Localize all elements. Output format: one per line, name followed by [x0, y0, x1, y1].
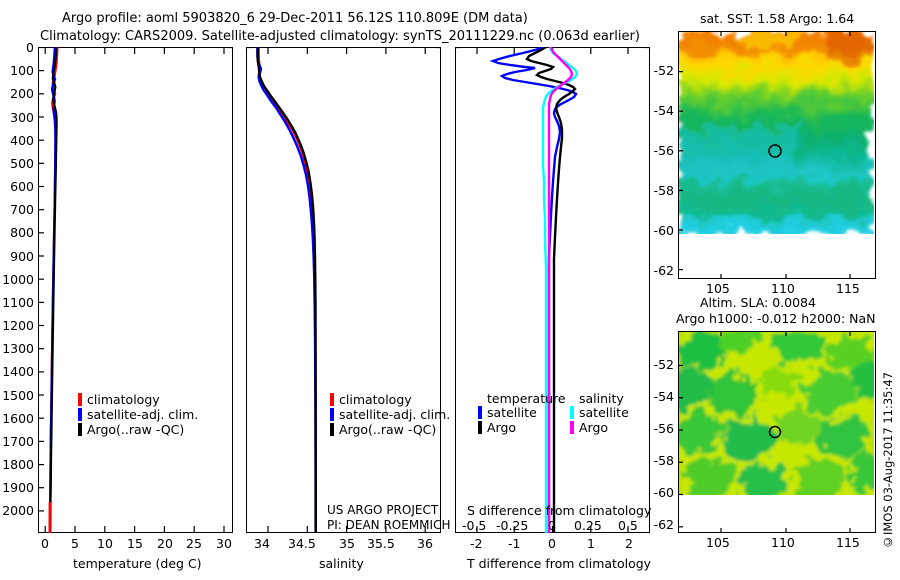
temperature-legend: climatology satellite-adj. clim. Argo(..… [78, 392, 198, 437]
salinity-axis-label: salinity [319, 556, 364, 571]
legend-item-salinity-satellite: satellite [570, 405, 629, 420]
difference-xtick-top-025: 0.25 [574, 518, 602, 533]
salinity-xtick-34: 34 [254, 536, 270, 551]
difference-xtick-top-05: 0.5 [618, 518, 638, 533]
difference-temperature-axis-label: T difference from climatology [467, 556, 651, 571]
legend-heading-temperature: temperature [487, 392, 566, 405]
legend-swatch-temperature-satellite [478, 406, 482, 419]
legend-swatch-climatology [330, 393, 334, 406]
imos-watermark: ©IMOS 03-Aug-2017 11:35:47 [881, 372, 895, 549]
legend-swatch-satellite-adj [330, 408, 334, 421]
legend-label-temperature-satellite: satellite [487, 406, 537, 419]
difference-legend: temperature satellite Argo [478, 392, 566, 435]
sst-xtick-105: 105 [706, 281, 730, 296]
legend-label-satellite-adj: satellite-adj. clim. [87, 408, 198, 421]
chart-title-line2: Climatology: CARS2009. Satellite-adjuste… [40, 29, 640, 44]
difference-series-temperature-satellite [493, 47, 576, 533]
legend-swatch-argo [330, 423, 334, 436]
legend-label-argo: Argo(..raw -QC) [87, 423, 184, 436]
difference-xtick-bottom-neg1: -1 [508, 536, 520, 551]
sla-xtick-105: 105 [706, 535, 730, 550]
legend-label-climatology: climatology [339, 393, 412, 406]
legend-item-temperature-satellite: satellite [478, 405, 566, 420]
legend-swatch-satellite-adj [78, 408, 82, 421]
salinity-xtick-36: 36 [417, 536, 433, 551]
difference-profile-plot [455, 47, 650, 533]
difference-xtick-bottom-2: 2 [625, 536, 633, 551]
legend-item-argo-salinity: Argo(..raw -QC) [330, 422, 450, 437]
legend-swatch-salinity-argo [570, 421, 574, 434]
legend-swatch-argo [78, 423, 82, 436]
legend-swatch-climatology [78, 393, 82, 406]
legend-swatch-temperature-argo [478, 421, 482, 434]
temperature-xtick-20: 20 [157, 536, 173, 551]
chart-title-line1: Argo profile: aoml 5903820_6 29-Dec-2011… [62, 11, 528, 26]
sst-map-ticks [678, 31, 876, 279]
difference-salinity-axis-label: S difference from climatology [467, 503, 651, 518]
legend-label-salinity-argo: Argo [579, 421, 608, 434]
salinity-legend: climatology satellite-adj. clim. Argo(..… [330, 392, 450, 437]
legend-item-climatology-salinity: climatology [330, 392, 450, 407]
salinity-profile-plot [246, 47, 441, 533]
us-argo-project-credit: US ARGO PROJECT [327, 503, 438, 517]
legend-item-satellite-adj: satellite-adj. clim. [78, 407, 198, 422]
sst-map-title: sat. SST: 1.58 Argo: 1.64 [700, 11, 854, 26]
salinity-xtick-35-5: 35.5 [367, 536, 395, 551]
difference-xtick-top-neg05: -0.5 [462, 518, 486, 533]
temperature-profile-plot [38, 47, 233, 533]
temperature-series-argo [50, 47, 56, 533]
difference-legend-salinity: salinity satellite Argo [570, 392, 629, 435]
temperature-xtick-10: 10 [97, 536, 113, 551]
legend-label-climatology: climatology [87, 393, 160, 406]
salinity-xtick-35: 35 [339, 536, 355, 551]
sla-xtick-115: 115 [836, 535, 860, 550]
pi-credit: PI: DEAN ROEMMICH [327, 518, 450, 532]
temperature-xtick-0: 0 [41, 536, 49, 551]
difference-xtick-bottom-0: 0 [548, 536, 556, 551]
legend-label-argo: Argo(..raw -QC) [339, 423, 436, 436]
salinity-series-argo [258, 47, 316, 533]
legend-heading-salinity: salinity [579, 392, 629, 405]
legend-swatch-salinity-satellite [570, 406, 574, 419]
legend-item-temperature-argo: Argo [478, 420, 566, 435]
sst-xtick-115: 115 [836, 281, 860, 296]
difference-xtick-bottom-1: 1 [587, 536, 595, 551]
legend-label-satellite-adj: satellite-adj. clim. [339, 408, 450, 421]
legend-item-satellite-adj-salinity: satellite-adj. clim. [330, 407, 450, 422]
difference-xtick-bottom-neg2: -2 [470, 536, 482, 551]
legend-item-argo: Argo(..raw -QC) [78, 422, 198, 437]
sst-xtick-110: 110 [771, 281, 795, 296]
sla-map-title-line1: Altim. SLA: 0.0084 [700, 295, 816, 310]
sla-xtick-110: 110 [771, 535, 795, 550]
legend-item-salinity-argo: Argo [570, 420, 629, 435]
difference-xtick-top-neg025: -0.25 [496, 518, 528, 533]
sla-map-title-line2: Argo h1000: -0.012 h2000: NaN [676, 311, 876, 326]
temperature-xtick-15: 15 [127, 536, 143, 551]
difference-series-temperature-argo [527, 47, 575, 533]
salinity-xtick-34-5: 34.5 [288, 536, 316, 551]
difference-xtick-top-0: 0 [548, 518, 556, 533]
temperature-axis-label: temperature (deg C) [73, 556, 202, 571]
legend-label-temperature-argo: Argo [487, 421, 516, 434]
temperature-xtick-30: 30 [216, 536, 232, 551]
sla-map-ticks [678, 331, 876, 533]
temperature-xtick-25: 25 [186, 536, 202, 551]
legend-label-salinity-satellite: satellite [579, 406, 629, 419]
legend-item-climatology: climatology [78, 392, 198, 407]
temperature-xtick-5: 5 [71, 536, 79, 551]
